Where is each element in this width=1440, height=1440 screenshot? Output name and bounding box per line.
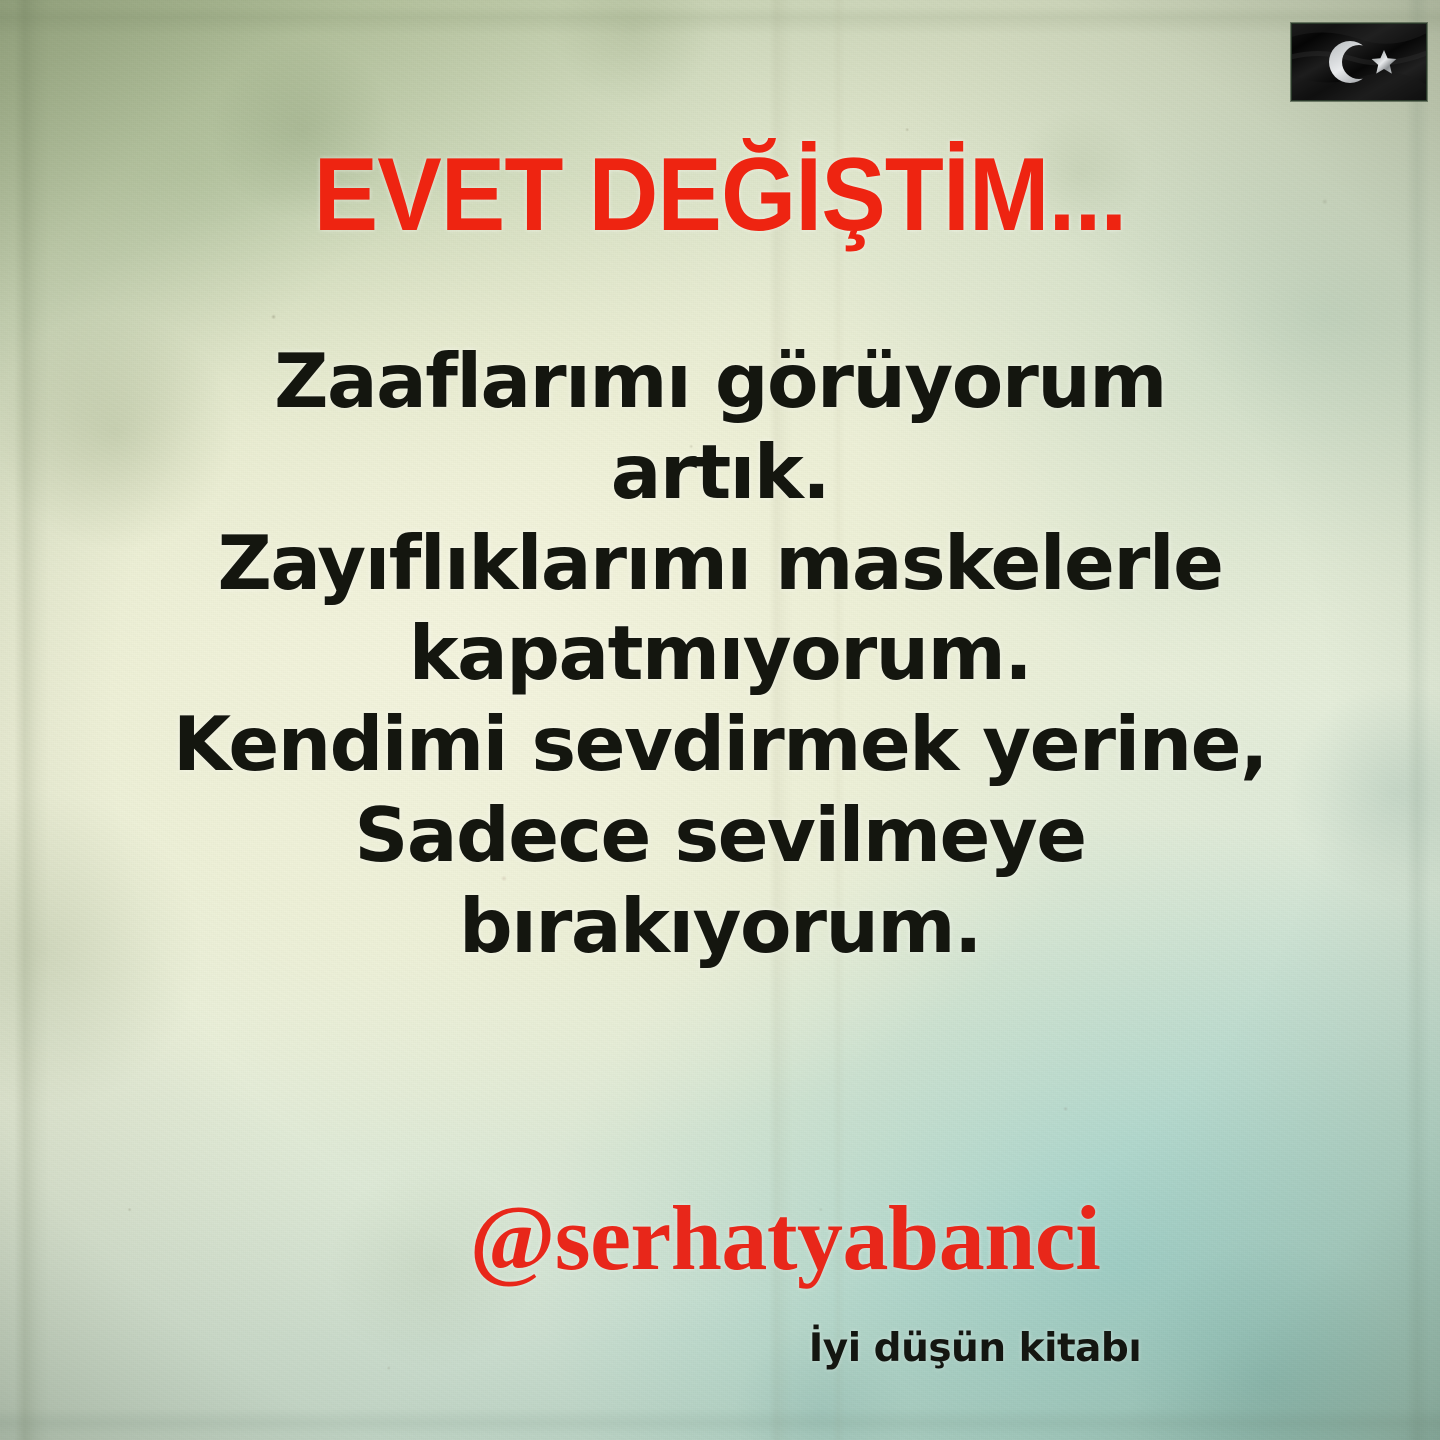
page-title: EVET DEĞİŞTİM... — [50, 143, 1389, 247]
quote-line: Zayıflıklarımı maskelerle — [110, 518, 1330, 609]
quote-line: Sadece sevilmeye — [110, 790, 1330, 881]
quote-line: artık. — [110, 427, 1330, 518]
quote-line: bırakıyorum. — [110, 881, 1330, 972]
turkish-flag-icon — [1291, 23, 1427, 101]
quote-line: Kendimi sevdirmek yerine, — [110, 699, 1330, 790]
book-credit: İyi düşün kitabı — [0, 1329, 1440, 1368]
author-handle: @serhatyabanci — [0, 1192, 1440, 1284]
quote-line: Zaaflarımı görüyorum — [110, 336, 1330, 427]
card-content: EVET DEĞİŞTİM... Zaaflarımı görüyorum ar… — [0, 0, 1440, 1440]
quote-card: EVET DEĞİŞTİM... Zaaflarımı görüyorum ar… — [0, 0, 1440, 1440]
quote-text: Zaaflarımı görüyorum artık. Zayıflıkları… — [110, 336, 1330, 971]
quote-line: kapatmıyorum. — [110, 608, 1330, 699]
